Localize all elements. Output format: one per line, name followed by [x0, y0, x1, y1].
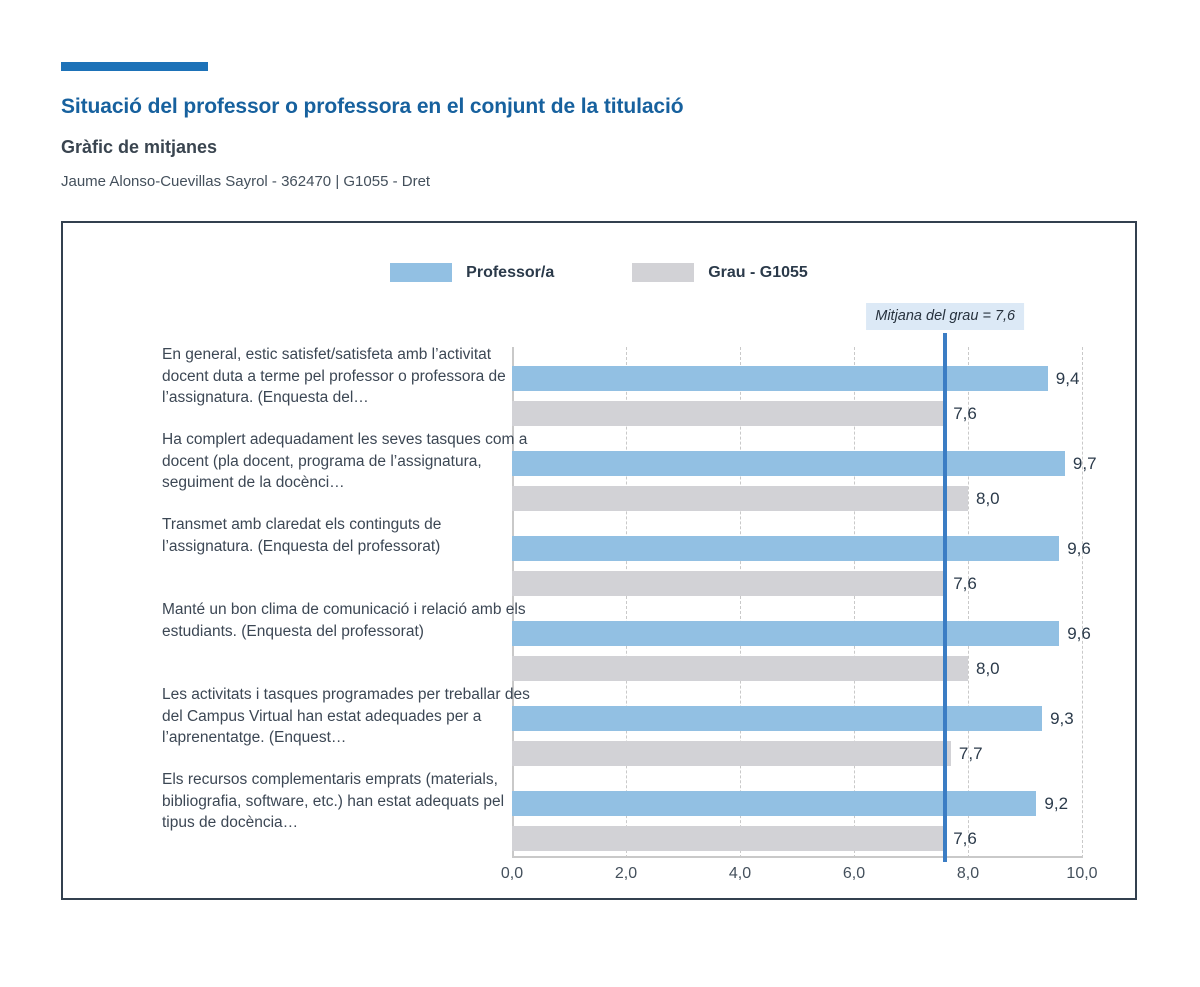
x-tick-label: 4,0: [729, 865, 751, 883]
bar-value-label: 8,0: [976, 659, 1000, 679]
bar-professor[interactable]: 9,2: [512, 791, 1036, 816]
category-label: Els recursos complementaris emprats (mat…: [162, 769, 534, 834]
bar-value-label: 8,0: [976, 489, 1000, 509]
gridline: [968, 347, 969, 858]
bar-value-label: 9,3: [1050, 709, 1074, 729]
bar-value-label: 9,4: [1056, 369, 1080, 389]
bar-value-label: 7,6: [953, 829, 977, 849]
mean-reference-label: Mitjana del grau = 7,6: [866, 303, 1024, 330]
bar-value-label: 7,7: [959, 744, 983, 764]
bar-professor[interactable]: 9,4: [512, 366, 1048, 391]
bar-grau[interactable]: 8,0: [512, 656, 968, 681]
category-label: Manté un bon clima de comunicació i rela…: [162, 599, 534, 642]
report-page: Situació del professor o professora en e…: [0, 0, 1200, 987]
x-tick-label: 0,0: [501, 865, 523, 883]
bar-professor[interactable]: 9,6: [512, 536, 1059, 561]
bar-grau[interactable]: 7,6: [512, 826, 945, 851]
bar-value-label: 9,6: [1067, 539, 1091, 559]
mean-reference-line: [943, 333, 947, 862]
page-subtitle: Gràfic de mitjanes: [61, 137, 217, 158]
bar-value-label: 9,7: [1073, 454, 1097, 474]
category-label: Les activitats i tasques programades per…: [162, 684, 534, 749]
page-meta: Jaume Alonso-Cuevillas Sayrol - 362470 |…: [61, 173, 430, 190]
bar-value-label: 9,2: [1044, 794, 1068, 814]
bar-value-label: 9,6: [1067, 624, 1091, 644]
bar-grau[interactable]: 7,6: [512, 401, 945, 426]
bar-grau[interactable]: 7,7: [512, 741, 951, 766]
bar-value-label: 7,6: [953, 404, 977, 424]
x-tick-label: 6,0: [843, 865, 865, 883]
bar-professor[interactable]: 9,6: [512, 621, 1059, 646]
x-tick-label: 8,0: [957, 865, 979, 883]
category-label: Transmet amb claredat els continguts de …: [162, 514, 534, 557]
x-tick-label: 2,0: [615, 865, 637, 883]
bar-grau[interactable]: 8,0: [512, 486, 968, 511]
bar-grau[interactable]: 7,6: [512, 571, 945, 596]
x-tick-label: 10,0: [1066, 865, 1097, 883]
plot: 9,47,69,78,09,67,69,68,09,37,79,27,6 En …: [63, 223, 1135, 898]
chart-frame: Professor/aGrau - G1055 9,47,69,78,09,67…: [61, 221, 1137, 900]
bar-professor[interactable]: 9,7: [512, 451, 1065, 476]
page-title: Situació del professor o professora en e…: [61, 95, 683, 119]
x-axis-line: [512, 856, 1083, 858]
accent-bar: [61, 62, 208, 71]
category-label: Ha complert adequadament les seves tasqu…: [162, 429, 534, 494]
gridline: [1082, 347, 1083, 858]
category-label: En general, estic satisfet/satisfeta amb…: [162, 344, 534, 409]
bar-professor[interactable]: 9,3: [512, 706, 1042, 731]
bar-value-label: 7,6: [953, 574, 977, 594]
